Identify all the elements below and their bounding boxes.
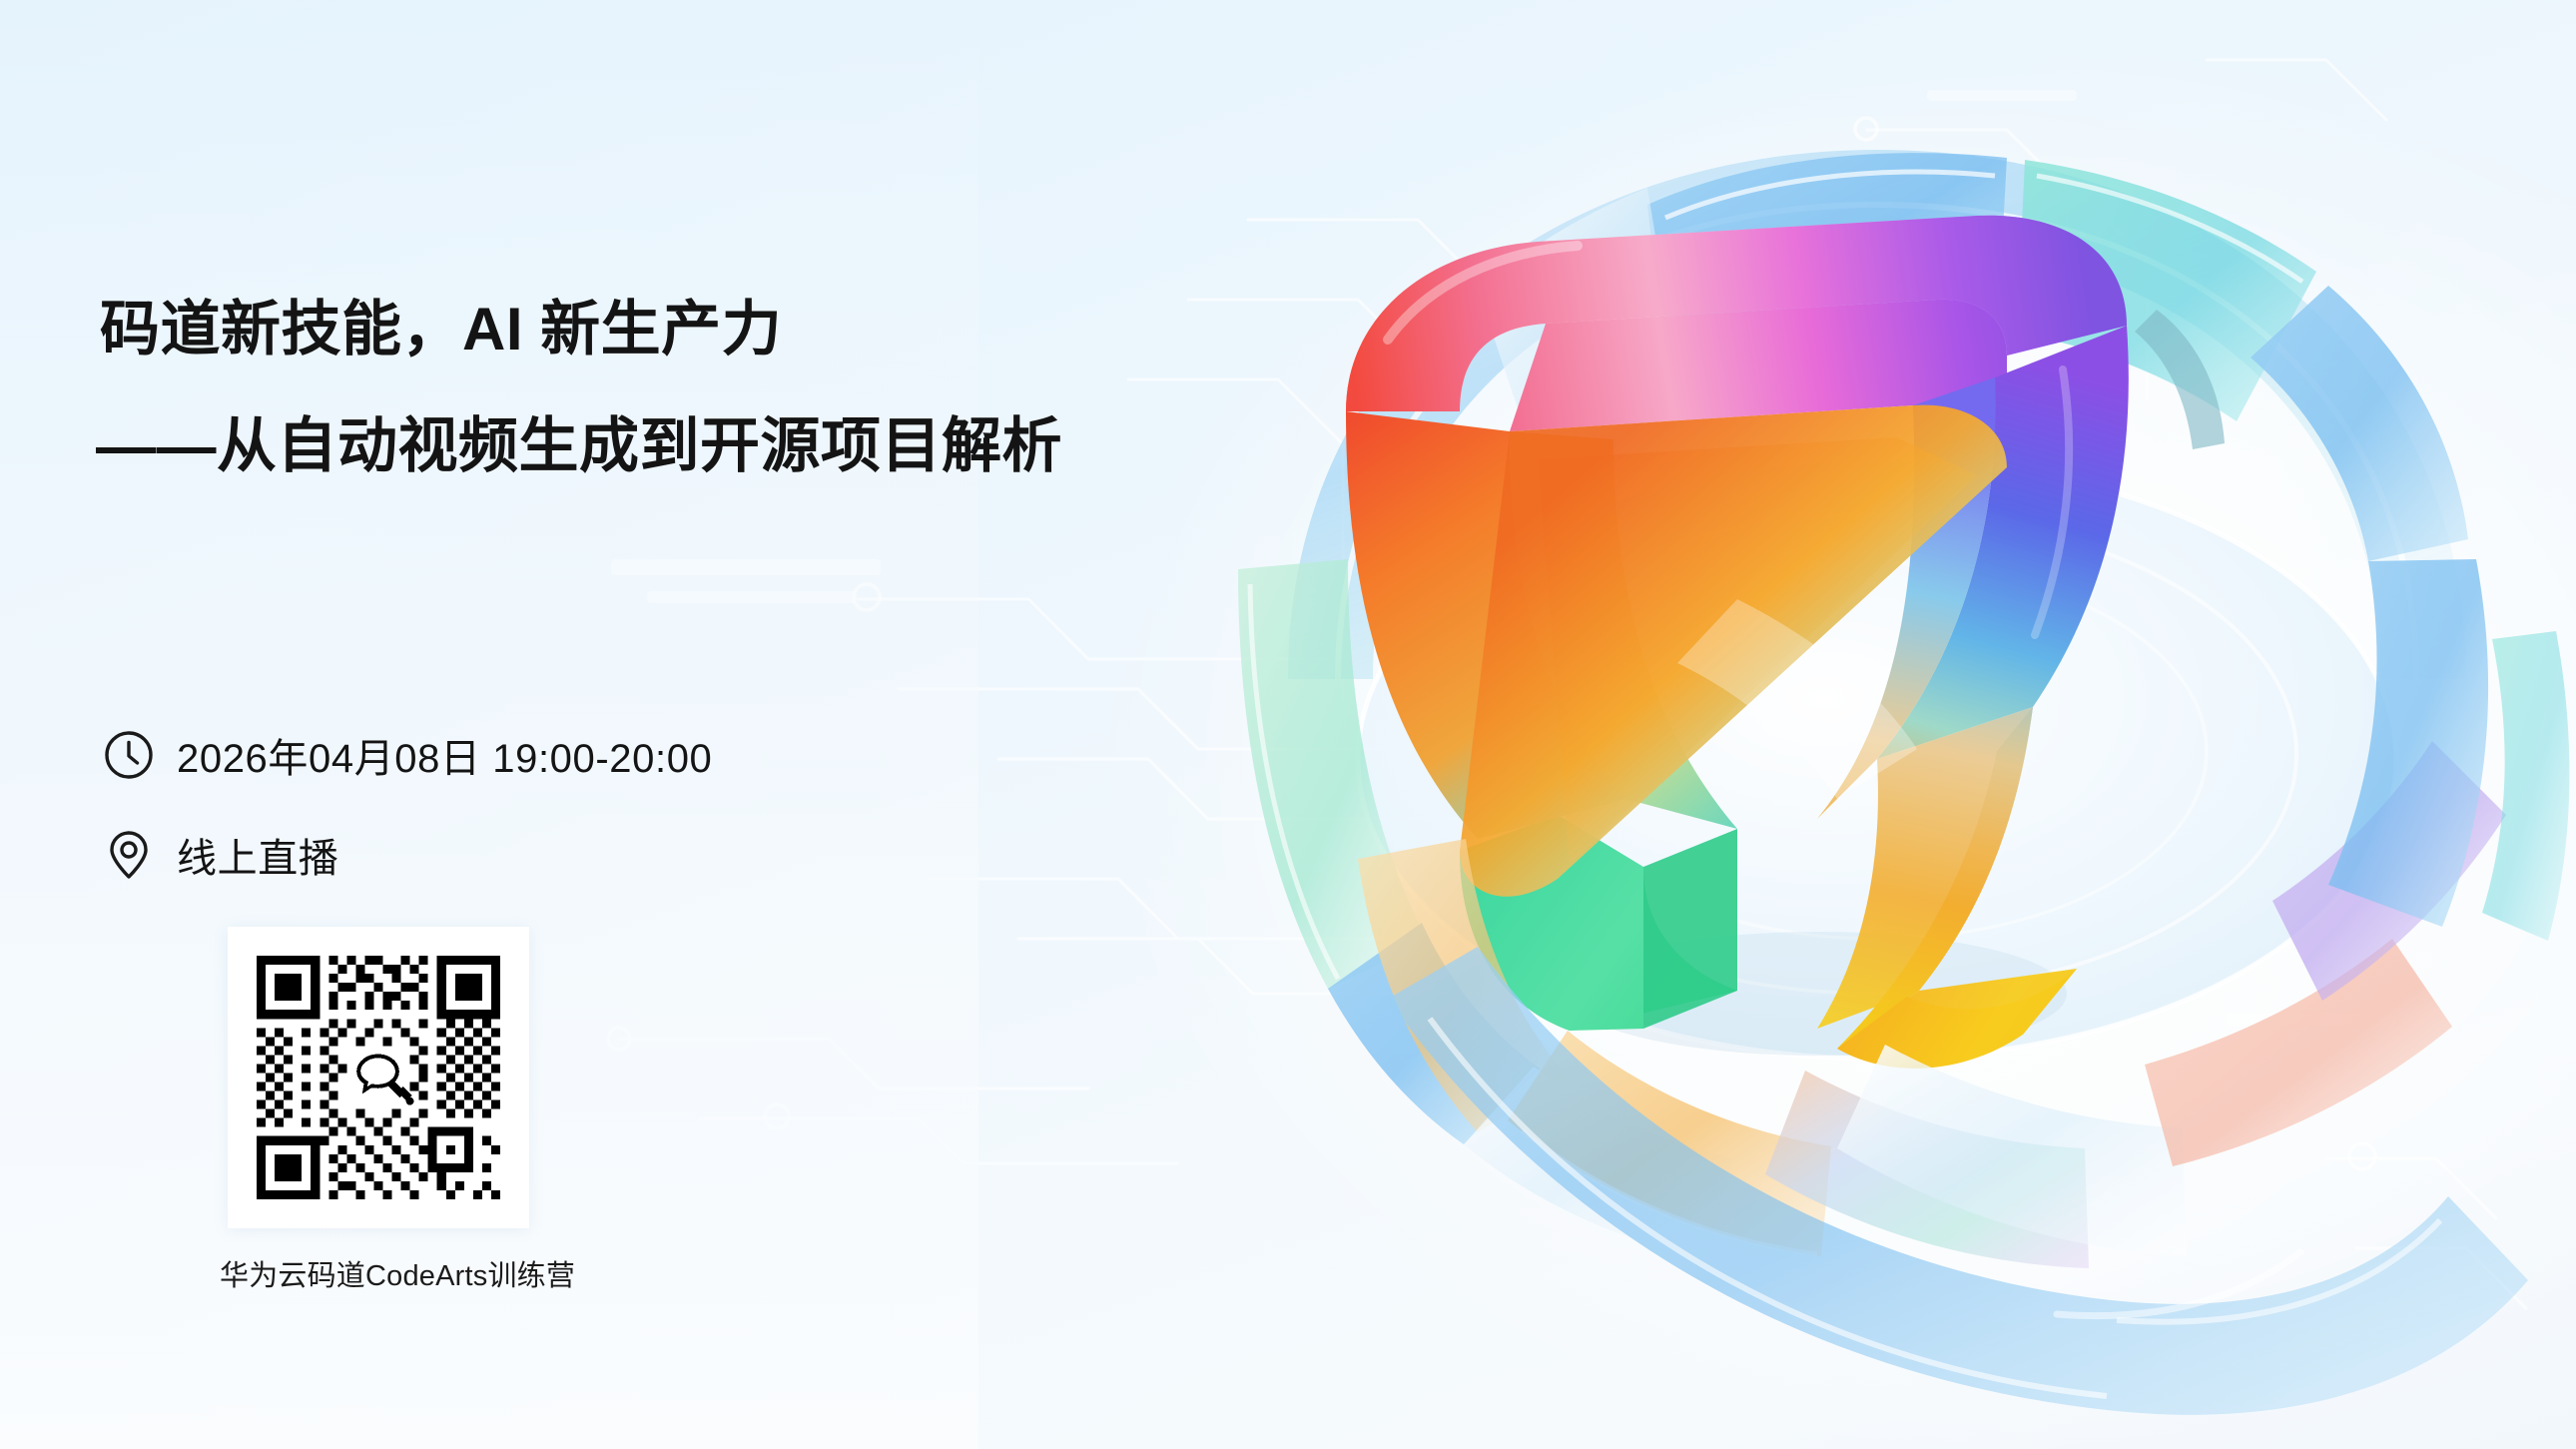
rainbow-ribbon-sculpture bbox=[1346, 216, 2129, 1069]
outer-ring-back bbox=[1288, 150, 2466, 679]
event-meta-list: 2026年04月08日 19:00-20:00 线上直播 bbox=[103, 721, 712, 889]
clock-icon bbox=[103, 729, 155, 781]
qr-caption: 华为云码道CodeArts训练营 bbox=[220, 1252, 521, 1294]
codearts-3d-ribbon-ring-artwork bbox=[1178, 40, 2576, 1449]
poster-canvas: 码道新技能，AI 新生产力 ——从自动视频生成到开源项目解析 2026年04月0… bbox=[0, 0, 2576, 1449]
ring-panels-back bbox=[1478, 153, 2468, 561]
title-line-1: 码道新技能，AI 新生产力 bbox=[100, 300, 1158, 360]
title-line-2: ——从自动视频生成到开源项目解析 bbox=[96, 416, 1158, 476]
inner-dish bbox=[1358, 459, 2396, 1059]
event-location-row: 线上直播 bbox=[103, 821, 712, 889]
page-title: 码道新技能，AI 新生产力 ——从自动视频生成到开源项目解析 bbox=[100, 300, 1158, 476]
event-time-text: 2026年04月08日 19:00-20:00 bbox=[177, 726, 712, 784]
event-location-text: 线上直播 bbox=[177, 826, 338, 884]
ring-panels-front bbox=[1238, 310, 2569, 1415]
event-time-row: 2026年04月08日 19:00-20:00 bbox=[103, 721, 712, 789]
qr-code-card[interactable] bbox=[228, 927, 529, 1228]
location-pin-icon bbox=[103, 829, 155, 881]
text-content: 码道新技能，AI 新生产力 ——从自动视频生成到开源项目解析 2026年04月0… bbox=[0, 0, 1198, 1449]
qr-code-image[interactable] bbox=[248, 947, 509, 1208]
qr-code-block[interactable]: 华为云码道CodeArts训练营 bbox=[228, 927, 529, 1294]
